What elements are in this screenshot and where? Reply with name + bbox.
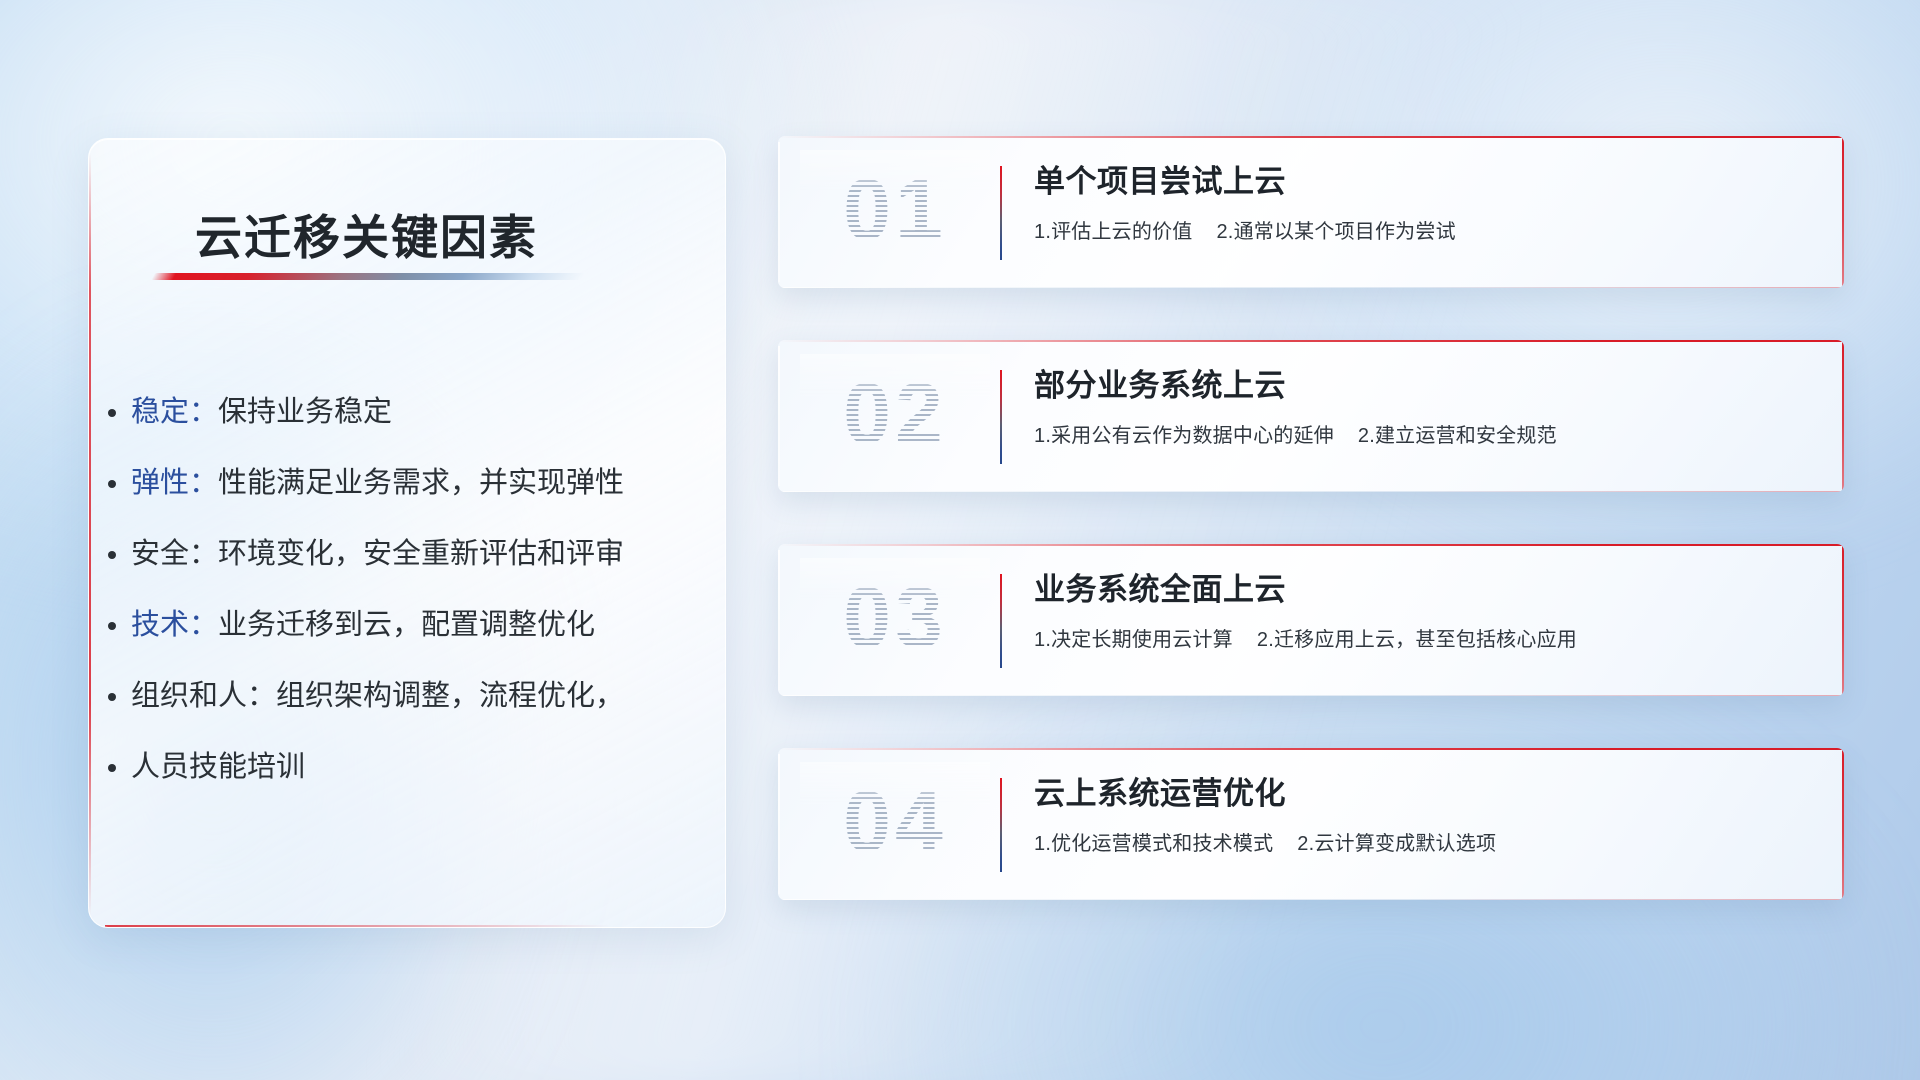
key-factors-list: 稳定：保持业务稳定弹性：性能满足业务需求，并实现弹性安全：环境变化，安全重新评估… xyxy=(131,377,701,803)
key-factor-value: 环境变化，安全重新评估和评审 xyxy=(218,538,624,570)
card-top-accent-line xyxy=(778,544,1844,546)
card-top-accent-line xyxy=(778,136,1844,138)
card-left-edge-line xyxy=(778,550,780,690)
card-right-accent-line xyxy=(1842,340,1844,492)
card-body: 云上系统运营优化1.优化运营模式和技术模式2.云计算变成默认选项 xyxy=(1034,772,1818,858)
card-description-part-2: 2.建立运营和安全规范 xyxy=(1358,425,1557,447)
key-factor-value: 组织架构调整，流程优化， xyxy=(276,680,624,712)
stage-card[interactable]: 02部分业务系统上云1.采用公有云作为数据中心的延伸2.建立运营和安全规范 xyxy=(778,340,1844,492)
card-right-accent-line xyxy=(1842,136,1844,288)
card-title: 云上系统运营优化 xyxy=(1034,772,1818,816)
card-description: 1.决定长期使用云计算2.迁移应用上云，甚至包括核心应用 xyxy=(1034,626,1818,654)
key-factor-label: 稳定： xyxy=(131,396,218,428)
card-description: 1.优化运营模式和技术模式2.云计算变成默认选项 xyxy=(1034,830,1818,858)
card-description-part-1: 1.决定长期使用云计算 xyxy=(1034,629,1233,651)
panel-left-accent-line xyxy=(89,153,91,917)
card-description-part-1: 1.采用公有云作为数据中心的延伸 xyxy=(1034,425,1334,447)
card-description-part-2: 2.云计算变成默认选项 xyxy=(1297,833,1496,855)
key-factor-value: 业务迁移到云，配置调整优化 xyxy=(218,609,595,641)
card-bottom-edge-line xyxy=(778,899,1844,900)
card-divider-line xyxy=(1000,574,1002,668)
card-left-edge-line xyxy=(778,142,780,282)
migration-stage-cards: 01单个项目尝试上云1.评估上云的价值2.通常以某个项目作为尝试02部分业务系统… xyxy=(778,136,1844,952)
key-factor-value: 保持业务稳定 xyxy=(218,396,392,428)
card-bottom-edge-line xyxy=(778,287,1844,288)
card-divider-line xyxy=(1000,166,1002,260)
card-body: 部分业务系统上云1.采用公有云作为数据中心的延伸2.建立运营和安全规范 xyxy=(1034,364,1818,450)
card-description: 1.采用公有云作为数据中心的延伸2.建立运营和安全规范 xyxy=(1034,422,1818,450)
card-description-part-2: 2.通常以某个项目作为尝试 xyxy=(1216,221,1455,243)
key-factor-item: 组织和人：组织架构调整，流程优化， xyxy=(131,661,701,732)
card-top-accent-line xyxy=(778,340,1844,342)
key-factor-label: 弹性： xyxy=(131,467,218,499)
stage-card[interactable]: 03业务系统全面上云1.决定长期使用云计算2.迁移应用上云，甚至包括核心应用 xyxy=(778,544,1844,696)
key-factor-label: 技术： xyxy=(131,609,218,641)
stage-card[interactable]: 04云上系统运营优化1.优化运营模式和技术模式2.云计算变成默认选项 xyxy=(778,748,1844,900)
key-factor-item: 技术：业务迁移到云，配置调整优化 xyxy=(131,590,701,661)
key-factor-value: 性能满足业务需求，并实现弹性 xyxy=(218,467,624,499)
slide-stage: 云迁移关键因素 稳定：保持业务稳定弹性：性能满足业务需求，并实现弹性安全：环境变… xyxy=(0,0,1920,1080)
card-right-accent-line xyxy=(1842,748,1844,900)
key-factor-value: 人员技能培训 xyxy=(131,751,305,783)
title-underline-rule xyxy=(151,273,585,280)
key-factor-item: 稳定：保持业务稳定 xyxy=(131,377,701,448)
page-title: 云迁移关键因素 xyxy=(195,199,538,268)
key-factors-panel: 云迁移关键因素 稳定：保持业务稳定弹性：性能满足业务需求，并实现弹性安全：环境变… xyxy=(88,138,726,928)
card-right-accent-line xyxy=(1842,544,1844,696)
key-factor-item: 弹性：性能满足业务需求，并实现弹性 xyxy=(131,448,701,519)
key-factor-item: 安全：环境变化，安全重新评估和评审 xyxy=(131,519,701,590)
card-step-number: 02 xyxy=(800,354,990,474)
card-title: 部分业务系统上云 xyxy=(1034,364,1818,408)
card-body: 业务系统全面上云1.决定长期使用云计算2.迁移应用上云，甚至包括核心应用 xyxy=(1034,568,1818,654)
key-factor-item: 人员技能培训 xyxy=(131,732,701,803)
card-step-number: 03 xyxy=(800,558,990,678)
card-title: 业务系统全面上云 xyxy=(1034,568,1818,612)
card-bottom-edge-line xyxy=(778,491,1844,492)
card-body: 单个项目尝试上云1.评估上云的价值2.通常以某个项目作为尝试 xyxy=(1034,160,1818,246)
card-description-part-1: 1.优化运营模式和技术模式 xyxy=(1034,833,1273,855)
card-description: 1.评估上云的价值2.通常以某个项目作为尝试 xyxy=(1034,218,1818,246)
card-left-edge-line xyxy=(778,346,780,486)
card-left-edge-line xyxy=(778,754,780,894)
card-description-part-1: 1.评估上云的价值 xyxy=(1034,221,1192,243)
panel-bottom-accent-line xyxy=(105,925,611,927)
card-divider-line xyxy=(1000,778,1002,872)
key-factor-label: 安全： xyxy=(131,538,218,570)
card-divider-line xyxy=(1000,370,1002,464)
card-top-accent-line xyxy=(778,748,1844,750)
card-step-number: 04 xyxy=(800,762,990,882)
stage-card[interactable]: 01单个项目尝试上云1.评估上云的价值2.通常以某个项目作为尝试 xyxy=(778,136,1844,288)
card-bottom-edge-line xyxy=(778,695,1844,696)
card-step-number: 01 xyxy=(800,150,990,270)
card-title: 单个项目尝试上云 xyxy=(1034,160,1818,204)
key-factor-label: 组织和人： xyxy=(131,680,276,712)
card-description-part-2: 2.迁移应用上云，甚至包括核心应用 xyxy=(1257,629,1577,651)
